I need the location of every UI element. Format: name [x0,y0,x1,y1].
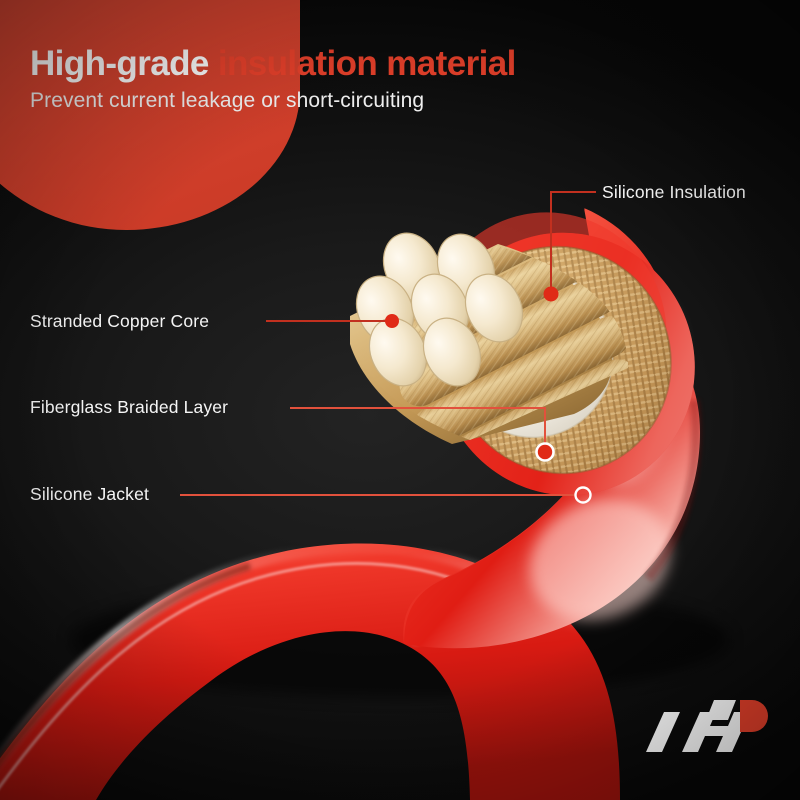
header: High-grade insulation material Prevent c… [30,42,516,113]
brand-logo [636,690,772,764]
callout-label-silicone-jacket: Silicone Jacket [30,484,149,505]
callout-label-stranded-copper-core: Stranded Copper Core [30,311,209,332]
page-title: High-grade insulation material [30,42,516,86]
infographic-canvas: High-grade insulation material Prevent c… [0,0,800,800]
callout-label-fiberglass-braided-layer: Fiberglass Braided Layer [30,397,228,418]
callout-label-silicone-insulation: Silicone Insulation [602,182,746,203]
logo-slash [646,712,680,752]
page-title-part-1: High-grade [30,44,218,83]
page-title-part-2: insulation material [218,44,516,83]
page-subtitle: Prevent current leakage or short-circuit… [30,89,516,113]
logo-flag [706,700,736,720]
logo-accent-mark [740,700,768,732]
